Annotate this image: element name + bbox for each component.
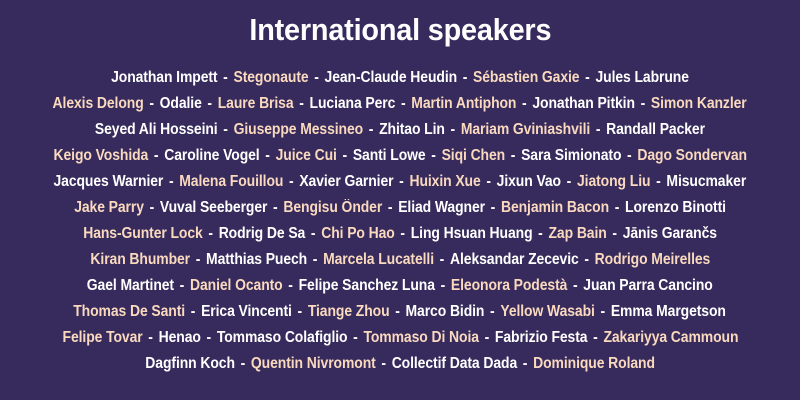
speaker-name: Randall Packer <box>606 121 705 138</box>
speaker-row-inner: Seyed Ali Hosseini - Giuseppe Messineo -… <box>95 122 705 138</box>
speaker-name: Odalie <box>160 95 202 112</box>
speaker-name: Gael Martinet <box>87 277 174 294</box>
speaker-name: Xavier Garnier <box>300 173 394 190</box>
name-separator: - <box>305 225 321 242</box>
speaker-name: Mariam Gviniashvili <box>461 121 590 138</box>
speaker-name: Fabrizio Festa <box>494 329 587 346</box>
speaker-row: Hans-Gunter Lock - Rodrig De Sa - Chi Po… <box>5 221 795 247</box>
speaker-row-inner: Alexis Delong - Odalie - Laure Brisa - L… <box>53 96 747 112</box>
speaker-row: Dagfinn Koch - Quentin Nivromont - Colle… <box>5 351 795 377</box>
name-separator: - <box>395 225 411 242</box>
speaker-name: Chi Po Hao <box>321 225 395 242</box>
speaker-name: Yellow Wasabi <box>501 303 595 320</box>
name-separator: - <box>434 251 450 268</box>
speaker-row: Kiran Bhumber - Matthias Puech - Marcela… <box>5 247 795 273</box>
speaker-list: Jonathan Impett - Stegonaute - Jean-Clau… <box>0 65 800 377</box>
speaker-name: Aleksandar Zecevic <box>450 251 579 268</box>
name-separator: - <box>294 95 310 112</box>
name-separator: - <box>517 95 533 112</box>
speaker-row-inner: Dagfinn Koch - Quentin Nivromont - Colle… <box>145 356 655 372</box>
speaker-row: Jake Parry - Vuval Seeberger - Bengisu Ö… <box>5 195 795 221</box>
speaker-name: Jixun Vao <box>497 173 561 190</box>
name-separator: - <box>337 147 353 164</box>
speaker-name: Misucmaker <box>667 173 747 190</box>
name-separator: - <box>635 95 651 112</box>
speaker-row-inner: Keigo Voshida - Caroline Vogel - Juice C… <box>53 148 746 164</box>
name-separator: - <box>485 303 501 320</box>
speaker-name: Felipe Tovar <box>62 329 142 346</box>
speaker-name: Daniel Ocanto <box>190 277 283 294</box>
name-separator: - <box>235 355 251 372</box>
name-separator: - <box>595 303 611 320</box>
name-separator: - <box>445 121 461 138</box>
name-separator: - <box>144 95 160 112</box>
speaker-name: Huixin Xue <box>410 173 481 190</box>
page-title: International speakers <box>249 14 551 45</box>
speaker-name: Ling Hsuan Huang <box>411 225 533 242</box>
name-separator: - <box>532 225 548 242</box>
speaker-name: Zap Bain <box>548 225 606 242</box>
name-separator: - <box>607 225 623 242</box>
speaker-name: Jules Labrune <box>595 69 688 86</box>
name-separator: - <box>561 173 577 190</box>
speaker-row: Felipe Tovar - Henao - Tommaso Colafigli… <box>5 325 795 351</box>
speaker-name: Laure Brisa <box>218 95 294 112</box>
speaker-row: Jonathan Impett - Stegonaute - Jean-Clau… <box>5 65 795 91</box>
speaker-name: Alexis Delong <box>53 95 144 112</box>
speaker-name: Luciana Perc <box>310 95 396 112</box>
speaker-row-inner: Hans-Gunter Lock - Rodrig De Sa - Chi Po… <box>83 226 717 242</box>
name-separator: - <box>382 199 398 216</box>
name-separator: - <box>174 277 190 294</box>
name-separator: - <box>148 147 164 164</box>
speaker-row-inner: Jake Parry - Vuval Seeberger - Bengisu Ö… <box>74 200 726 216</box>
speaker-row: Alexis Delong - Odalie - Laure Brisa - L… <box>5 91 795 117</box>
international-speakers-poster: International speakers Jonathan Impett -… <box>0 0 800 400</box>
name-separator: - <box>142 329 158 346</box>
speaker-name: Santi Lowe <box>353 147 426 164</box>
speaker-name: Zhitao Lin <box>379 121 445 138</box>
name-separator: - <box>309 69 325 86</box>
name-separator: - <box>144 199 160 216</box>
name-separator: - <box>217 69 233 86</box>
speaker-name: Bengisu Önder <box>283 199 382 216</box>
speaker-name: Dominique Roland <box>533 355 655 372</box>
speaker-name: Jiatong Liu <box>577 173 650 190</box>
speaker-name: Caroline Vogel <box>164 147 259 164</box>
speaker-name: Quentin Nivromont <box>251 355 376 372</box>
speaker-name: Marco Bidin <box>406 303 485 320</box>
name-separator: - <box>218 121 234 138</box>
speaker-row-inner: Jonathan Impett - Stegonaute - Jean-Clau… <box>111 70 689 86</box>
speaker-name: Hans-Gunter Lock <box>83 225 202 242</box>
name-separator: - <box>200 329 216 346</box>
speaker-name: Tommaso Colafiglio <box>216 329 347 346</box>
speaker-row-inner: Kiran Bhumber - Matthias Puech - Marcela… <box>90 252 710 268</box>
speaker-name: Vuval Seeberger <box>160 199 267 216</box>
name-separator: - <box>396 95 412 112</box>
speaker-name: Felipe Sanchez Luna <box>299 277 435 294</box>
speaker-name: Thomas De Santi <box>74 303 186 320</box>
name-separator: - <box>307 251 323 268</box>
name-separator: - <box>283 277 299 294</box>
name-separator: - <box>163 173 179 190</box>
name-separator: - <box>425 147 441 164</box>
name-separator: - <box>347 329 363 346</box>
name-separator: - <box>457 69 473 86</box>
speaker-name: Jānis Garančs <box>623 225 717 242</box>
name-separator: - <box>190 251 206 268</box>
speaker-row-inner: Felipe Tovar - Henao - Tommaso Colafigli… <box>62 330 738 346</box>
name-separator: - <box>505 147 521 164</box>
speaker-name: Collectif Data Dada <box>392 355 517 372</box>
speaker-name: Simon Kanzler <box>651 95 747 112</box>
speaker-name: Kiran Bhumber <box>90 251 190 268</box>
name-separator: - <box>203 225 219 242</box>
speaker-name: Benjamin Bacon <box>501 199 609 216</box>
speaker-name: Jacques Warnier <box>54 173 164 190</box>
speaker-row: Seyed Ali Hosseini - Giuseppe Messineo -… <box>5 117 795 143</box>
name-separator: - <box>568 277 584 294</box>
speaker-name: Seyed Ali Hosseini <box>95 121 218 138</box>
name-separator: - <box>284 173 300 190</box>
speaker-name: Tommaso Di Noia <box>363 329 478 346</box>
speaker-name: Juan Parra Cancino <box>584 277 713 294</box>
name-separator: - <box>578 251 594 268</box>
speaker-name: Sébastien Gaxie <box>473 69 579 86</box>
speaker-name: Siqi Chen <box>441 147 505 164</box>
speaker-row: Thomas De Santi - Erica Vincenti - Tiang… <box>5 299 795 325</box>
name-separator: - <box>485 199 501 216</box>
name-separator: - <box>202 95 218 112</box>
speaker-name: Jake Parry <box>74 199 144 216</box>
name-separator: - <box>609 199 625 216</box>
name-separator: - <box>259 147 275 164</box>
name-separator: - <box>376 355 392 372</box>
name-separator: - <box>435 277 451 294</box>
name-separator: - <box>394 173 410 190</box>
name-separator: - <box>587 329 603 346</box>
speaker-name: Stegonaute <box>233 69 308 86</box>
speaker-name: Eliad Wagner <box>398 199 485 216</box>
name-separator: - <box>363 121 379 138</box>
speaker-name: Jonathan Pitkin <box>533 95 636 112</box>
speaker-name: Jonathan Impett <box>111 69 217 86</box>
name-separator: - <box>590 121 606 138</box>
name-separator: - <box>390 303 406 320</box>
name-separator: - <box>481 173 497 190</box>
speaker-row-inner: Gael Martinet - Daniel Ocanto - Felipe S… <box>87 278 713 294</box>
speaker-name: Erica Vincenti <box>202 303 293 320</box>
speaker-name: Eleonora Podestà <box>451 277 567 294</box>
name-separator: - <box>478 329 494 346</box>
speaker-name: Martin Antiphon <box>412 95 517 112</box>
speaker-name: Rodrig De Sa <box>219 225 306 242</box>
name-separator: - <box>292 303 308 320</box>
name-separator: - <box>651 173 667 190</box>
name-separator: - <box>621 147 637 164</box>
speaker-row: Keigo Voshida - Caroline Vogel - Juice C… <box>5 143 795 169</box>
name-separator: - <box>186 303 202 320</box>
speaker-name: Dagfinn Koch <box>145 355 235 372</box>
speaker-name: Henao <box>158 329 200 346</box>
speaker-row: Jacques Warnier - Malena Fouillou - Xavi… <box>5 169 795 195</box>
speaker-row: Gael Martinet - Daniel Ocanto - Felipe S… <box>5 273 795 299</box>
speaker-row-inner: Thomas De Santi - Erica Vincenti - Tiang… <box>74 304 727 320</box>
name-separator: - <box>517 355 533 372</box>
speaker-name: Malena Fouillou <box>179 173 283 190</box>
name-separator: - <box>267 199 283 216</box>
speaker-name: Lorenzo Binotti <box>625 199 726 216</box>
speaker-row-inner: Jacques Warnier - Malena Fouillou - Xavi… <box>54 174 747 190</box>
speaker-name: Dago Sondervan <box>637 147 747 164</box>
name-separator: - <box>579 69 595 86</box>
speaker-name: Keigo Voshida <box>53 147 148 164</box>
speaker-name: Juice Cui <box>275 147 336 164</box>
speaker-name: Sara Simionato <box>521 147 621 164</box>
speaker-name: Emma Margetson <box>611 303 726 320</box>
speaker-name: Tiange Zhou <box>308 303 390 320</box>
speaker-name: Rodrigo Meirelles <box>594 251 710 268</box>
speaker-name: Marcela Lucatelli <box>323 251 434 268</box>
speaker-name: Jean-Claude Heudin <box>325 69 457 86</box>
speaker-name: Giuseppe Messineo <box>234 121 363 138</box>
speaker-name: Matthias Puech <box>206 251 307 268</box>
speaker-name: Zakariyya Cammoun <box>603 329 738 346</box>
